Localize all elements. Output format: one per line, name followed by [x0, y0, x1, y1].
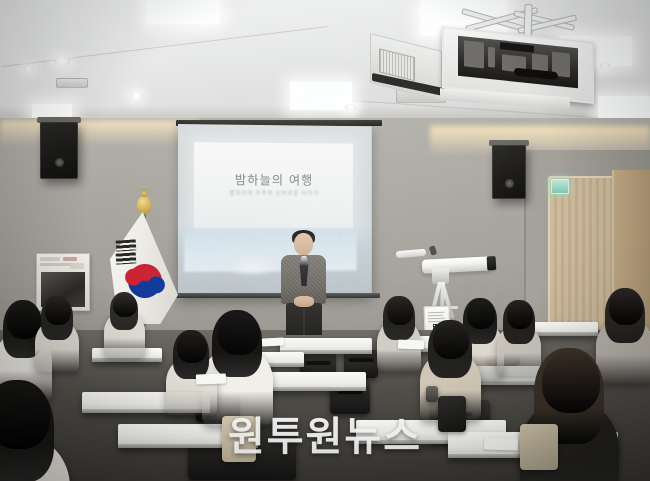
slide-subtitle: 별자리와 우주의 신비로운 이야기 [194, 188, 353, 197]
paper-bag [520, 424, 558, 470]
flag-trigram-icon [116, 252, 137, 264]
ceiling-downlight [600, 62, 610, 68]
flag-finial-icon [137, 196, 151, 214]
flag-trigram-icon [116, 239, 137, 251]
attendee-beanie [112, 292, 158, 354]
camera-bag [438, 396, 466, 432]
wall-speaker-right [492, 145, 526, 199]
desk-paper [484, 437, 518, 450]
ceiling-panel-light [146, 0, 220, 24]
ceiling-panel-light [598, 96, 650, 120]
board-note [70, 263, 84, 269]
projector-unit [458, 36, 578, 89]
attendee-head [542, 352, 600, 413]
attendee-head [433, 322, 469, 359]
desk-paper [262, 337, 284, 346]
screen-bottom-bar [176, 293, 380, 298]
attendee-head [45, 298, 71, 326]
slide-horizon-glow [225, 251, 280, 273]
cove-light-glow-left [0, 120, 200, 146]
ceiling-downlight [54, 56, 70, 66]
attendee-head [387, 298, 413, 326]
ceiling-downlight [345, 104, 356, 111]
ceiling-panel-light [290, 82, 352, 110]
projector-housing [442, 26, 594, 104]
attendee-front-left-2 [44, 296, 93, 368]
ceiling-downlight [130, 92, 143, 100]
desk-edge [92, 358, 162, 362]
desk-paper [398, 340, 424, 350]
ceiling-downlight [24, 66, 33, 72]
paper-bag [222, 416, 256, 462]
exit-sign [551, 179, 569, 194]
ceiling-projector-lift [432, 4, 600, 96]
attendee-head [113, 294, 137, 318]
attendee-head [177, 332, 207, 363]
board-note [40, 257, 60, 261]
wall-speaker-left [40, 122, 78, 179]
attendee-foreground-l [0, 380, 104, 481]
projection-screen: 밤하늘의 여행 별자리와 우주의 신비로운 이야기 강사 · 발표 [178, 124, 372, 298]
presenter-hands [294, 296, 314, 307]
telescope-objective-lens [487, 256, 497, 270]
lecture-room-photo: 밤하늘의 여행 별자리와 우주의 신비로운 이야기 강사 · 발표 [0, 0, 650, 481]
attendee-back-row [176, 330, 233, 412]
board-note [63, 257, 77, 261]
desk-paper [196, 373, 226, 384]
tumbler [426, 386, 438, 402]
attendee-head [609, 290, 643, 325]
ceiling-air-vent [56, 78, 88, 88]
attendee-head [507, 302, 533, 330]
presentation-slide: 밤하늘의 여행 별자리와 우주의 신비로운 이야기 강사 · 발표 [194, 142, 353, 228]
slide-title: 밤하늘의 여행 [194, 169, 353, 188]
